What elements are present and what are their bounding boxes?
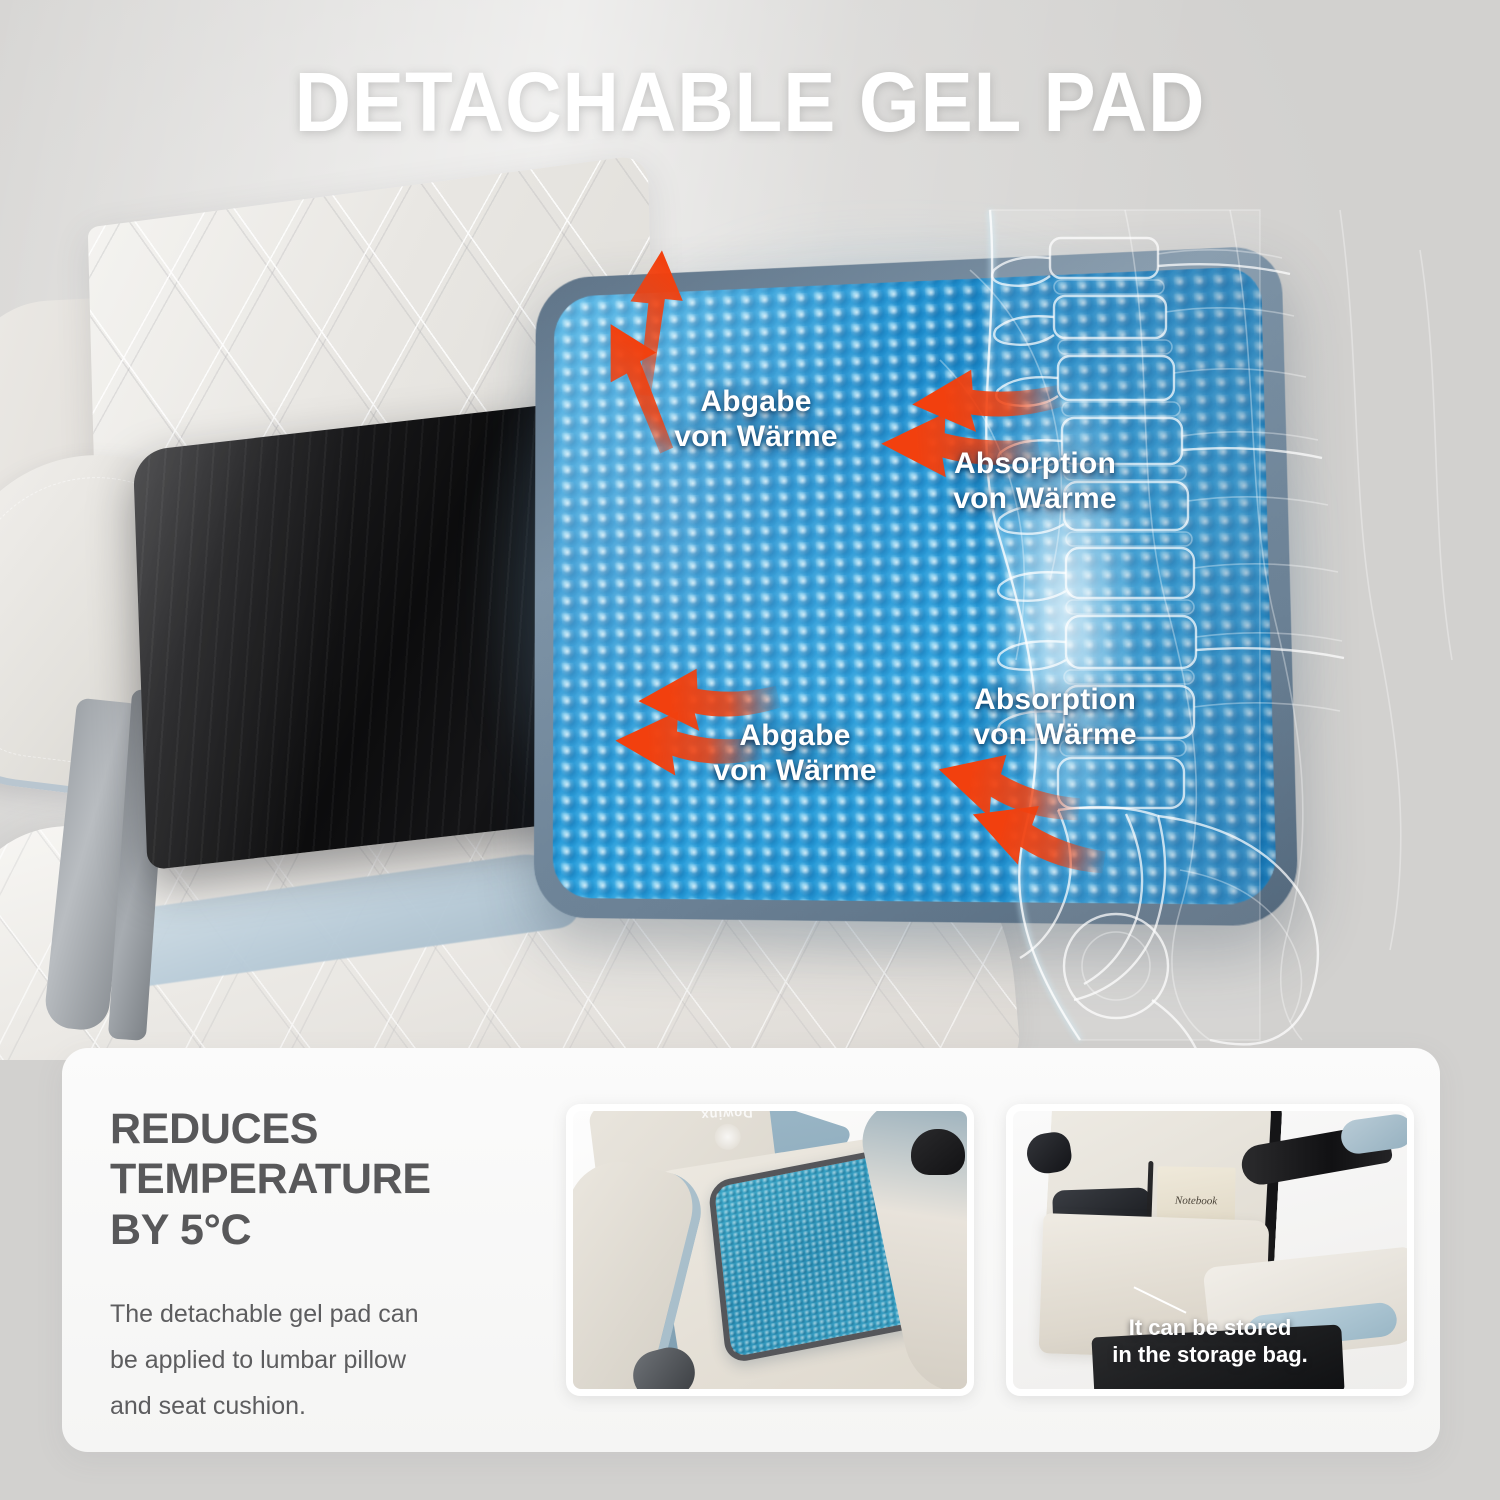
feature-description: The detachable gel pad can be applied to…: [110, 1291, 540, 1430]
page-title: DETACHABLE GEL PAD: [53, 54, 1448, 151]
callout-emit-bottom: Abgabe von Wärme: [680, 718, 910, 789]
photo-card-seat-cushion[interactable]: Dowinx: [566, 1104, 974, 1396]
storage-bag-caption: It can be stored in the storage bag.: [1013, 1315, 1407, 1369]
feature-panel: REDUCES TEMPERATURE BY 5°C The detachabl…: [62, 1048, 1440, 1452]
feature-heading: REDUCES TEMPERATURE BY 5°C: [110, 1104, 540, 1255]
brand-logo-text: Dowinx: [700, 1111, 753, 1123]
photo-card-storage-bag[interactable]: Notebook It can be stored in the storage…: [1006, 1104, 1414, 1396]
photo-storage-bag: Notebook It can be stored in the storage…: [1013, 1111, 1407, 1389]
feature-text-block: REDUCES TEMPERATURE BY 5°C The detachabl…: [110, 1104, 540, 1430]
heat-absorb-arrow-bottom-lower: [928, 800, 1108, 880]
crest-icon: [714, 1123, 741, 1150]
photo-seat-cushion: Dowinx: [573, 1111, 967, 1389]
callout-emit-top: Abgabe von Wärme: [646, 384, 866, 455]
chair-wheel-right: [911, 1129, 965, 1175]
callout-absorb-bottom: Absorption von Wärme: [930, 682, 1180, 753]
brand-logo: Dowinx: [682, 1111, 772, 1152]
notebook-label: Notebook: [1157, 1194, 1235, 1207]
hero-section: Abgabe von Wärme Absorption von Wärme Ab…: [0, 0, 1500, 1060]
callout-absorb-top: Absorption von Wärme: [910, 446, 1160, 517]
